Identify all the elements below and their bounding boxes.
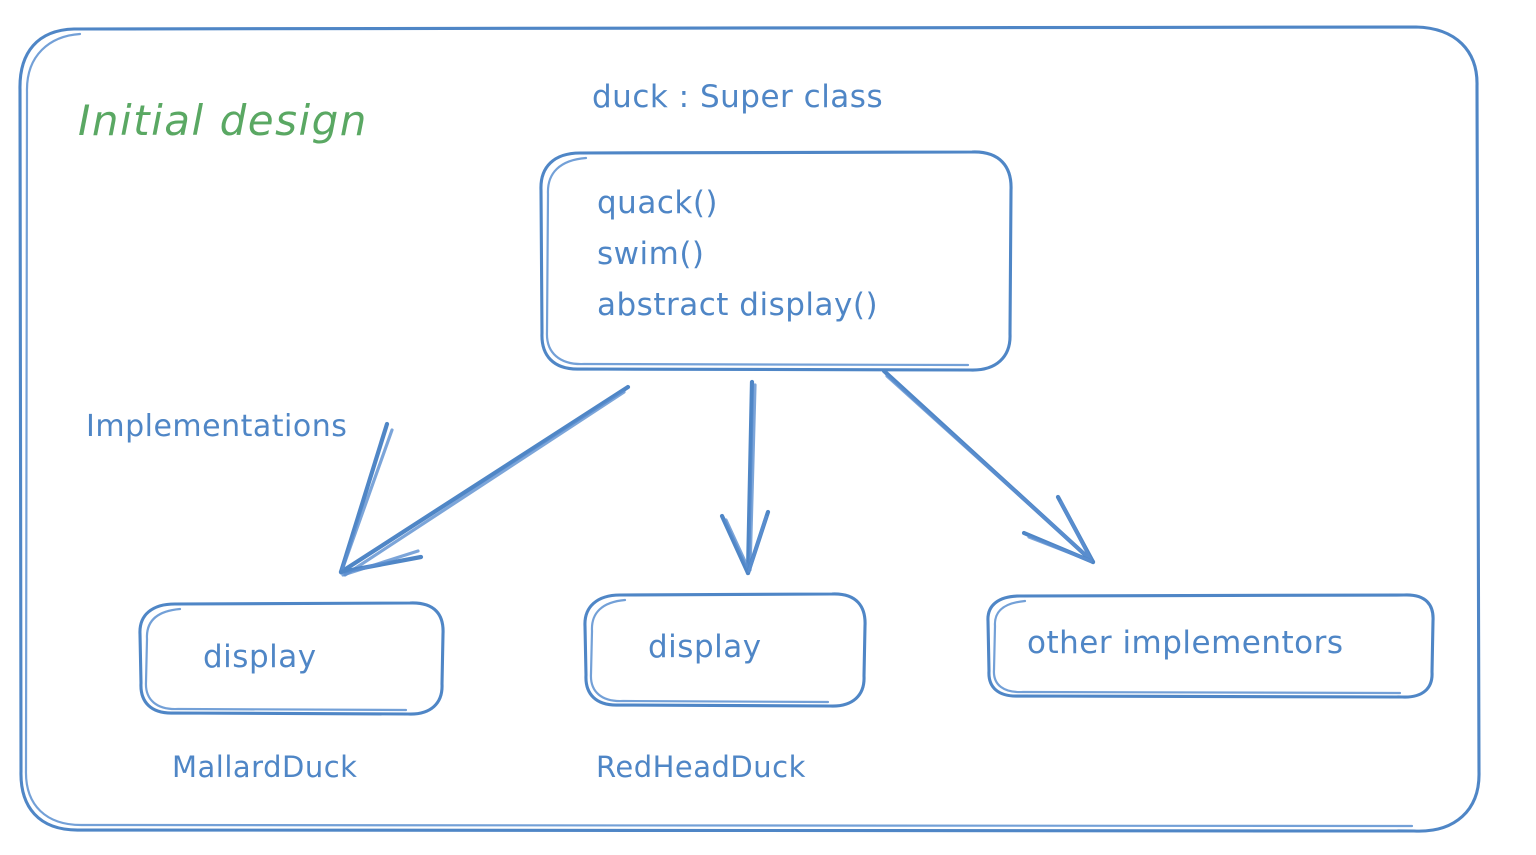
implementations-section-label: Implementations [86, 409, 347, 444]
redheadduck-caption: RedHeadDuck [596, 750, 806, 784]
page-title: Initial design [78, 96, 368, 145]
diagram-canvas: .ink { fill: none; stroke: #4f86c6; stro… [0, 0, 1536, 855]
redheadduck-box-label: display [648, 629, 762, 665]
arrow-to-mallardduck [341, 387, 628, 575]
mallardduck-caption: MallardDuck [172, 750, 357, 784]
superclass-member-abstract-display: abstract display() [597, 287, 878, 323]
superclass-member-swim: swim() [597, 236, 705, 272]
mallardduck-box-label: display [203, 639, 317, 675]
arrow-to-redheadduck [722, 382, 768, 573]
arrow-to-other-implementors [884, 371, 1093, 562]
superclass-member-quack: quack() [597, 185, 718, 221]
superclass-header-label: duck : Super class [592, 79, 883, 115]
other-implementors-box-label: other implementors [1027, 625, 1344, 661]
